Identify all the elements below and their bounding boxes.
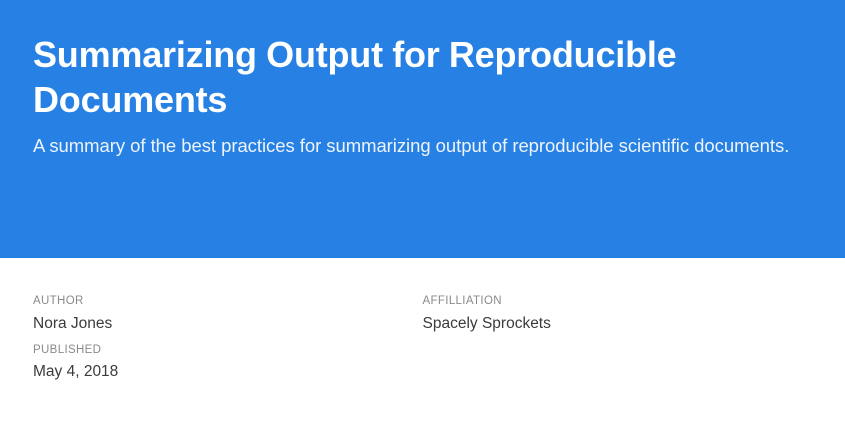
metadata-grid: AUTHOR Nora Jones PUBLISHED May 4, 2018 …	[33, 294, 812, 384]
affilliation-column: AFFILLIATION Spacely Sprockets	[423, 294, 813, 335]
document-title-block: Summarizing Output for Reproducible Docu…	[0, 0, 845, 444]
page-subtitle: A summary of the best practices for summ…	[33, 131, 798, 160]
author-column: AUTHOR Nora Jones PUBLISHED May 4, 2018	[33, 294, 423, 384]
author-label: AUTHOR	[33, 294, 423, 310]
page-title: Summarizing Output for Reproducible Docu…	[33, 33, 733, 122]
metadata-section: AUTHOR Nora Jones PUBLISHED May 4, 2018 …	[0, 258, 845, 444]
affilliation-label: AFFILLIATION	[423, 294, 813, 310]
author-value: Nora Jones	[33, 312, 423, 335]
published-value: May 4, 2018	[33, 360, 423, 383]
affilliation-value: Spacely Sprockets	[423, 312, 813, 335]
published-label: PUBLISHED	[33, 343, 423, 359]
title-banner: Summarizing Output for Reproducible Docu…	[0, 0, 845, 258]
